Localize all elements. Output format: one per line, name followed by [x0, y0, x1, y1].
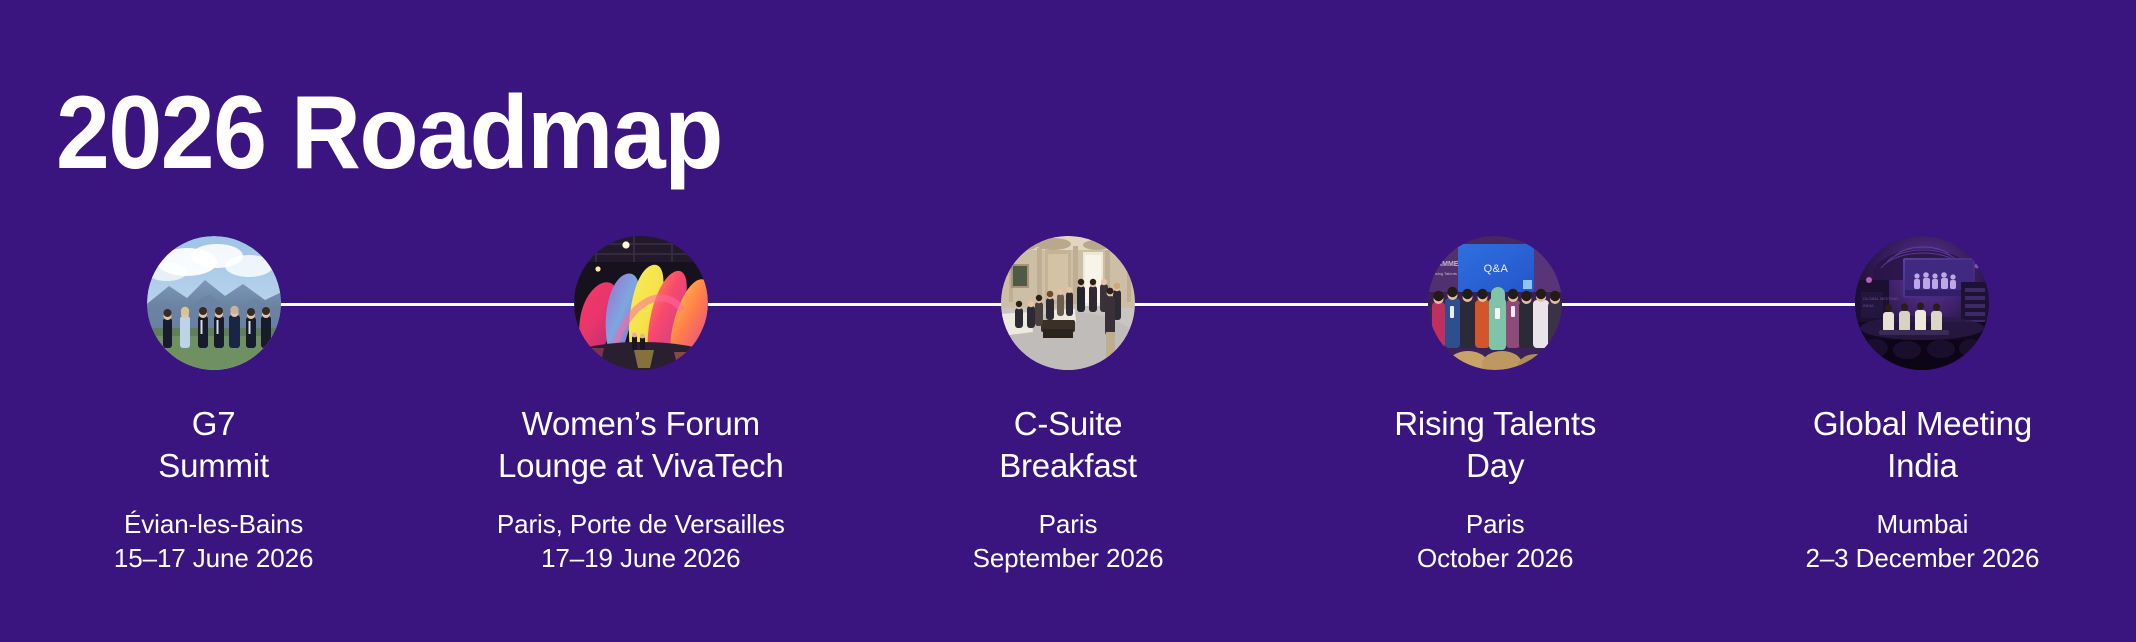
rising-talents-group-qa-photo: Q&A &B RAMME Rising Talents — [1428, 236, 1562, 370]
svg-text:INDIA: INDIA — [1863, 303, 1874, 308]
milestone-meta: Évian-les-Bains 15–17 June 2026 — [114, 508, 313, 576]
milestone-title: G7 Summit — [158, 403, 269, 486]
milestone-meta: Paris October 2026 — [1417, 508, 1573, 576]
page-title: 2026 Roadmap — [56, 72, 722, 195]
milestone-meta: Mumbai 2–3 December 2026 — [1805, 508, 2039, 576]
svg-text:GLOBAL MEETING: GLOBAL MEETING — [1863, 296, 1898, 301]
conference-stage-panel-photo: GLOBAL MEETING INDIA — [1855, 236, 1989, 370]
svg-text:&B: &B — [1436, 246, 1449, 256]
milestone-title: C-Suite Breakfast — [999, 403, 1137, 486]
timeline-milestone[interactable]: C-Suite Breakfast Paris September 2026 — [854, 236, 1281, 576]
timeline-milestone[interactable]: G7 Summit Évian-les-Bains 15–17 June 202… — [0, 236, 427, 576]
g7-leaders-mountains-photo — [147, 236, 281, 370]
svg-text:Q&A: Q&A — [1484, 263, 1509, 275]
milestone-title: Rising Talents Day — [1394, 403, 1596, 486]
svg-text:RAMME: RAMME — [1432, 261, 1459, 268]
milestone-meta: Paris, Porte de Versailles 17–19 June 20… — [497, 508, 785, 576]
timeline-milestone[interactable]: GLOBAL MEETING INDIA — [1709, 236, 2136, 576]
svg-text:Rising Talents: Rising Talents — [1432, 271, 1457, 276]
timeline-milestone[interactable]: Q&A &B RAMME Rising Talents — [1282, 236, 1709, 576]
timeline-milestones: G7 Summit Évian-les-Bains 15–17 June 202… — [0, 236, 2136, 576]
timeline-milestone[interactable]: Women’s Forum Lounge at VivaTech Paris, … — [427, 236, 854, 576]
milestone-title: Women’s Forum Lounge at VivaTech — [498, 403, 784, 486]
roadmap-slide: 2026 Roadmap — [0, 0, 2136, 642]
milestone-title: Global Meeting India — [1813, 403, 2032, 486]
vivatech-inflatable-art-photo — [574, 236, 708, 370]
milestone-meta: Paris September 2026 — [973, 508, 1164, 576]
salon-reception-room-photo — [1001, 236, 1135, 370]
